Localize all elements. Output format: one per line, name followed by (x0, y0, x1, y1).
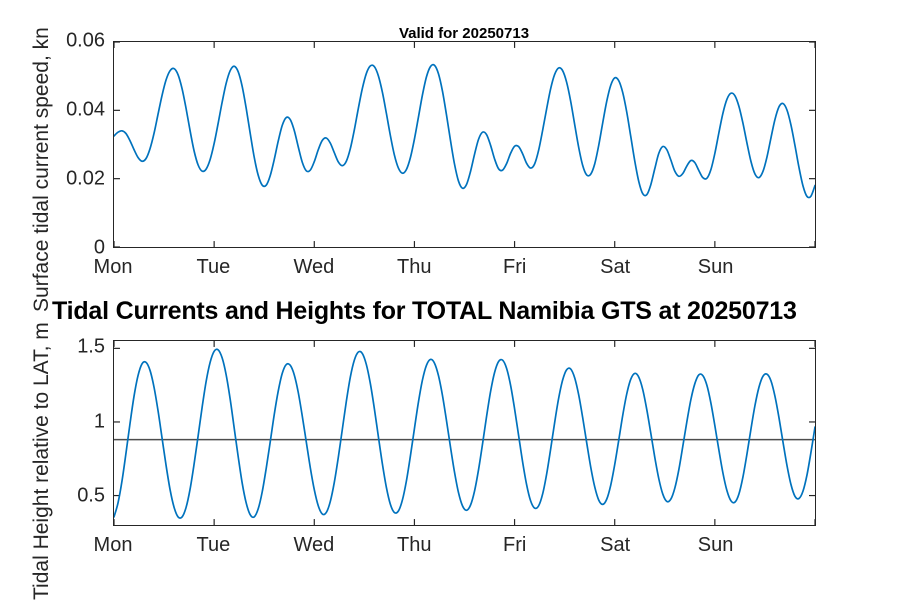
height-xtick-label-wed: Wed (293, 534, 334, 557)
tidal-figure: Valid for 20250713 Surface tidal current… (0, 0, 900, 600)
current-xtick-label-sat: Sat (600, 256, 630, 279)
chart-tidal-height (113, 340, 816, 526)
data-line-tidal-height-relative-to-lat (114, 349, 815, 518)
current-ytick-label: 0.04 (0, 99, 105, 122)
current-xtick-label-sun: Sun (698, 256, 734, 279)
current-xtick-label-mon: Mon (94, 256, 133, 279)
y-axis-label-tidal-height: Tidal Height relative to LAT, m (30, 322, 54, 600)
current-xtick-label-wed: Wed (293, 256, 334, 279)
height-ytick-label: 0.5 (0, 485, 105, 508)
chart-surface-tidal-current-speed (113, 41, 816, 248)
tidal-height-plot-svg (114, 341, 815, 525)
height-xtick-label-sun: Sun (698, 534, 734, 557)
subplot-title-valid-for: Valid for 20250713 (399, 25, 529, 42)
current-ytick-label: 0 (0, 237, 105, 260)
height-xtick-label-tue: Tue (197, 534, 231, 557)
height-xtick-label-mon: Mon (94, 534, 133, 557)
height-ytick-label: 1 (0, 410, 105, 433)
current-xtick-label-tue: Tue (197, 256, 231, 279)
height-xtick-label-sat: Sat (600, 534, 630, 557)
height-xtick-label-fri: Fri (503, 534, 526, 557)
height-ytick-label: 1.5 (0, 336, 105, 359)
data-line-surface-tidal-current-speed (114, 65, 815, 198)
current-xtick-label-thu: Thu (397, 256, 431, 279)
current-xtick-label-fri: Fri (503, 256, 526, 279)
current-speed-plot-svg (114, 42, 815, 247)
main-title: Tidal Currents and Heights for TOTAL Nam… (52, 297, 797, 326)
current-ytick-label: 0.06 (0, 30, 105, 53)
current-ytick-label: 0.02 (0, 168, 105, 191)
height-xtick-label-thu: Thu (397, 534, 431, 557)
